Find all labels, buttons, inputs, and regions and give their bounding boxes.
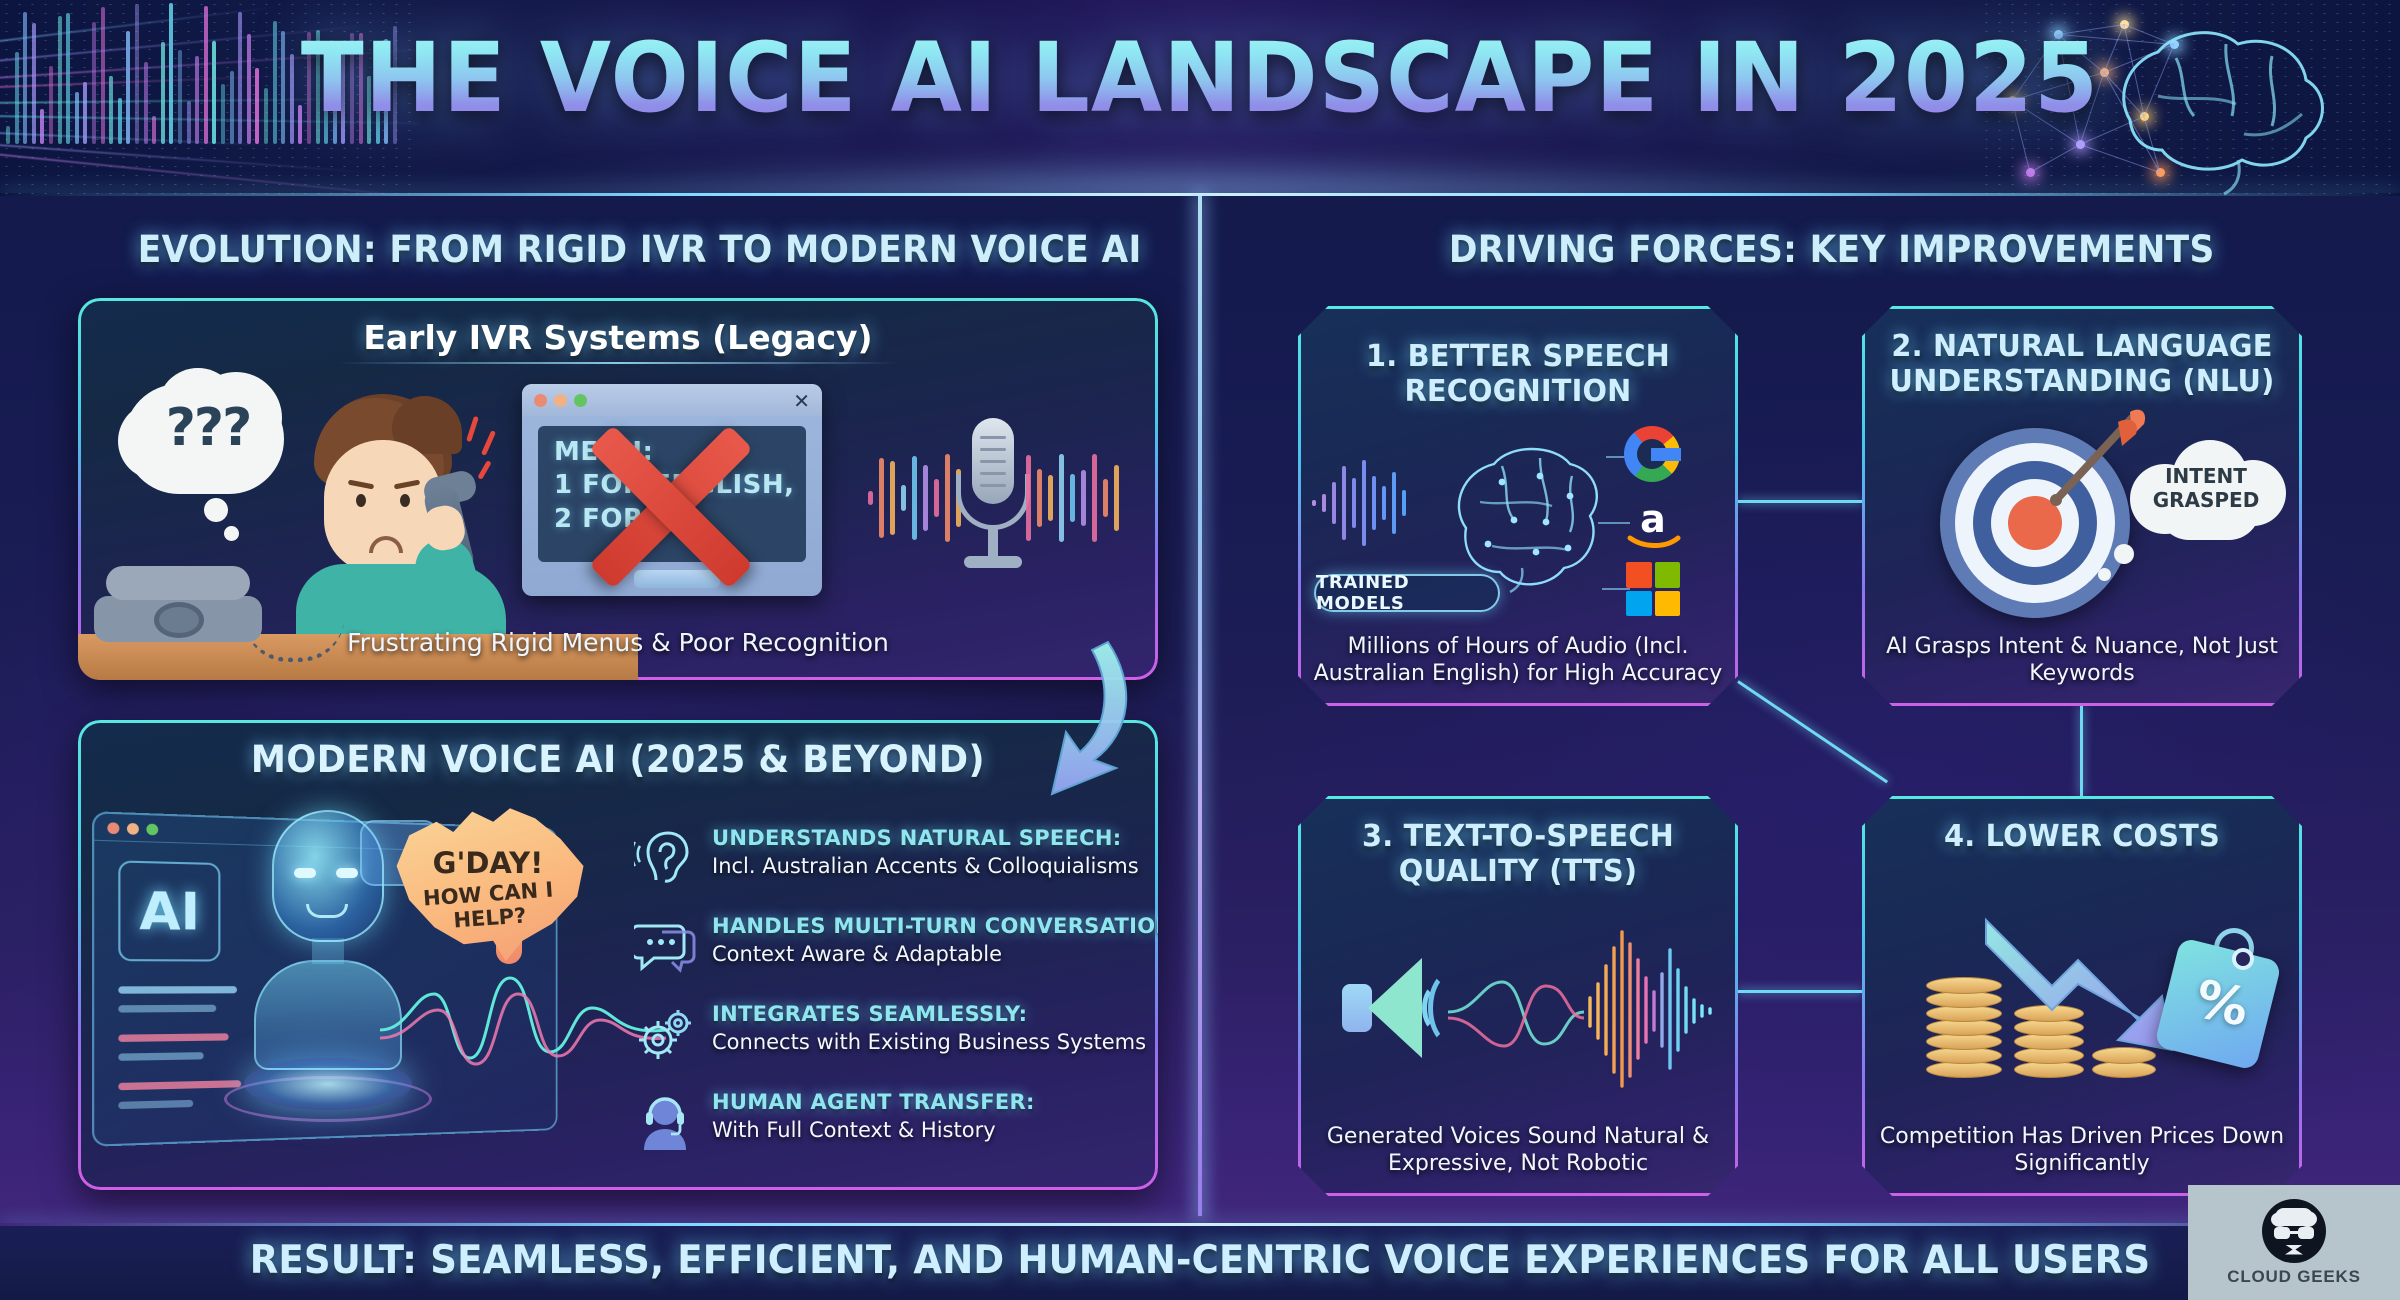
footer-result-text: RESULT: SEAMLESS, EFFICIENT, AND HUMAN-C…: [60, 1238, 2340, 1283]
australia-speech-bubble: G'DAY! HOW CAN I HELP?: [384, 798, 594, 968]
grasped-text: GRASPED: [2153, 488, 2260, 512]
early-ivr-panel: Early IVR Systems (Legacy) ???: [78, 298, 1158, 680]
cloud-geeks-logo[interactable]: CLOUD GEEKS: [2188, 1185, 2400, 1300]
window-dot-green: [574, 394, 587, 407]
feature-subtext: With Full Context & History: [712, 1118, 996, 1142]
screen-dot-red: [107, 822, 119, 834]
infographic-root: THE VOICE AI LANDSCAPE IN 2025 EVOLUTION…: [0, 0, 2400, 1300]
card2-title: 2. NATURAL LANGUAGE UNDERSTANDING (NLU): [1871, 330, 2293, 400]
card2-art: INTENT GRASPED: [1862, 416, 2302, 646]
card3-title: 3. TEXT-TO-SPEECH QUALITY (TTS): [1307, 820, 1729, 890]
card1-title: 1. BETTER SPEECH RECOGNITION: [1307, 340, 1729, 410]
logo-text: CLOUD GEEKS: [2227, 1267, 2360, 1287]
headset-agent-icon: [634, 1092, 696, 1154]
feature-subtext: Context Aware & Adaptable: [712, 942, 1002, 966]
card4-caption: Competition Has Driven Prices Down Signi…: [1862, 1123, 2302, 1178]
card1-art: a TRAINED MODELS: [1298, 416, 1738, 646]
feature-row-3: INTEGRATES SEAMLESSLY:Connects with Exis…: [634, 1000, 1154, 1088]
feature-row-1: UNDERSTANDS NATURAL SPEECH:Incl. Austral…: [634, 824, 1154, 912]
screen-dot-amber: [127, 823, 139, 835]
title-underline: [338, 362, 898, 364]
card3-art: [1298, 906, 1738, 1136]
left-section-heading: EVOLUTION: FROM RIGID IVR TO MODERN VOIC…: [138, 228, 1142, 271]
card-lower-costs[interactable]: 4. LOWER COSTS % Competition Has Driven: [1862, 796, 2302, 1196]
connector-1-4-diagonal: [1737, 680, 1888, 783]
thought-cloud-icon: INTENT GRASPED: [2124, 434, 2288, 544]
card-better-speech-recognition[interactable]: 1. BETTER SPEECH RECOGNITION: [1298, 306, 1738, 706]
connector-3-4: [1738, 990, 1862, 993]
feature-heading: HANDLES MULTI-TURN CONVERSATIONS:: [712, 914, 1158, 938]
waveform-icon: [1308, 458, 1416, 546]
page-title: THE VOICE AI LANDSCAPE IN 2025: [48, 22, 2352, 134]
ai-badge: AI: [118, 860, 220, 961]
voice-waveform-icon: [378, 960, 668, 1080]
microsoft-logo: [1626, 562, 1680, 616]
feature-subtext: Incl. Australian Accents & Colloquialism…: [712, 854, 1139, 878]
modern-panel-title: MODERN VOICE AI (2025 & BEYOND): [105, 738, 1131, 781]
red-x-reject-icon: [576, 412, 766, 602]
gears-icon: [634, 1004, 696, 1066]
card4-art: %: [1862, 906, 2302, 1136]
card3-caption: Generated Voices Sound Natural & Express…: [1298, 1123, 1738, 1178]
svg-text:a: a: [1640, 498, 1666, 541]
microphone-waveform-icon: [868, 408, 1118, 588]
card-natural-language-understanding[interactable]: 2. NATURAL LANGUAGE UNDERSTANDING (NLU): [1862, 306, 2302, 706]
right-section-heading: DRIVING FORCES: KEY IMPROVEMENTS: [1449, 228, 2215, 271]
feature-heading: UNDERSTANDS NATURAL SPEECH:: [712, 826, 1121, 850]
feature-row-4: HUMAN AGENT TRANSFER:With Full Context &…: [634, 1088, 1154, 1176]
speaker-icon: [1342, 958, 1442, 1058]
feature-heading: INTEGRATES SEAMLESSLY:: [712, 1002, 1027, 1026]
price-tag-icon: %: [2158, 928, 2278, 1066]
card2-caption: AI Grasps Intent & Nuance, Not Just Keyw…: [1862, 633, 2302, 688]
card1-caption: Millions of Hours of Audio (Incl. Austra…: [1298, 633, 1738, 688]
center-divider: [1198, 196, 1202, 1216]
top-banner: THE VOICE AI LANDSCAPE IN 2025: [0, 0, 2400, 196]
intent-text: INTENT: [2165, 464, 2247, 488]
amazon-logo: a: [1624, 498, 1682, 550]
card-text-to-speech-quality[interactable]: 3. TEXT-TO-SPEECH QUALITY (TTS): [1298, 796, 1738, 1196]
feature-subtext: Connects with Existing Business Systems: [712, 1030, 1146, 1054]
google-logo: [1624, 426, 1680, 482]
window-dot-red: [534, 394, 547, 407]
card4-title: 4. LOWER COSTS: [1871, 820, 2293, 855]
trained-models-badge: TRAINED MODELS: [1314, 574, 1500, 612]
footer-bar: RESULT: SEAMLESS, EFFICIENT, AND HUMAN-C…: [0, 1226, 2400, 1300]
connector-2-4: [2080, 706, 2083, 796]
gday-text: G'DAY!: [408, 846, 568, 880]
cloud-geek-avatar-icon: [2262, 1199, 2326, 1263]
window-dot-amber: [554, 394, 567, 407]
close-icon[interactable]: ✕: [793, 389, 810, 413]
sound-wave-icon: [1448, 926, 1720, 1096]
question-marks: ???: [138, 398, 278, 458]
feature-heading: HUMAN AGENT TRANSFER:: [712, 1090, 1035, 1114]
ivr-panel-title: Early IVR Systems (Legacy): [78, 318, 1158, 357]
flow-arrow-icon: [990, 628, 1170, 808]
ear-icon: [634, 828, 696, 890]
screen-dot-green: [146, 824, 158, 836]
feature-row-2: HANDLES MULTI-TURN CONVERSATIONS:Context…: [634, 912, 1154, 1000]
title-glow: [450, 150, 1950, 196]
chat-bubbles-icon: [634, 916, 696, 978]
connector-1-2: [1738, 500, 1862, 503]
